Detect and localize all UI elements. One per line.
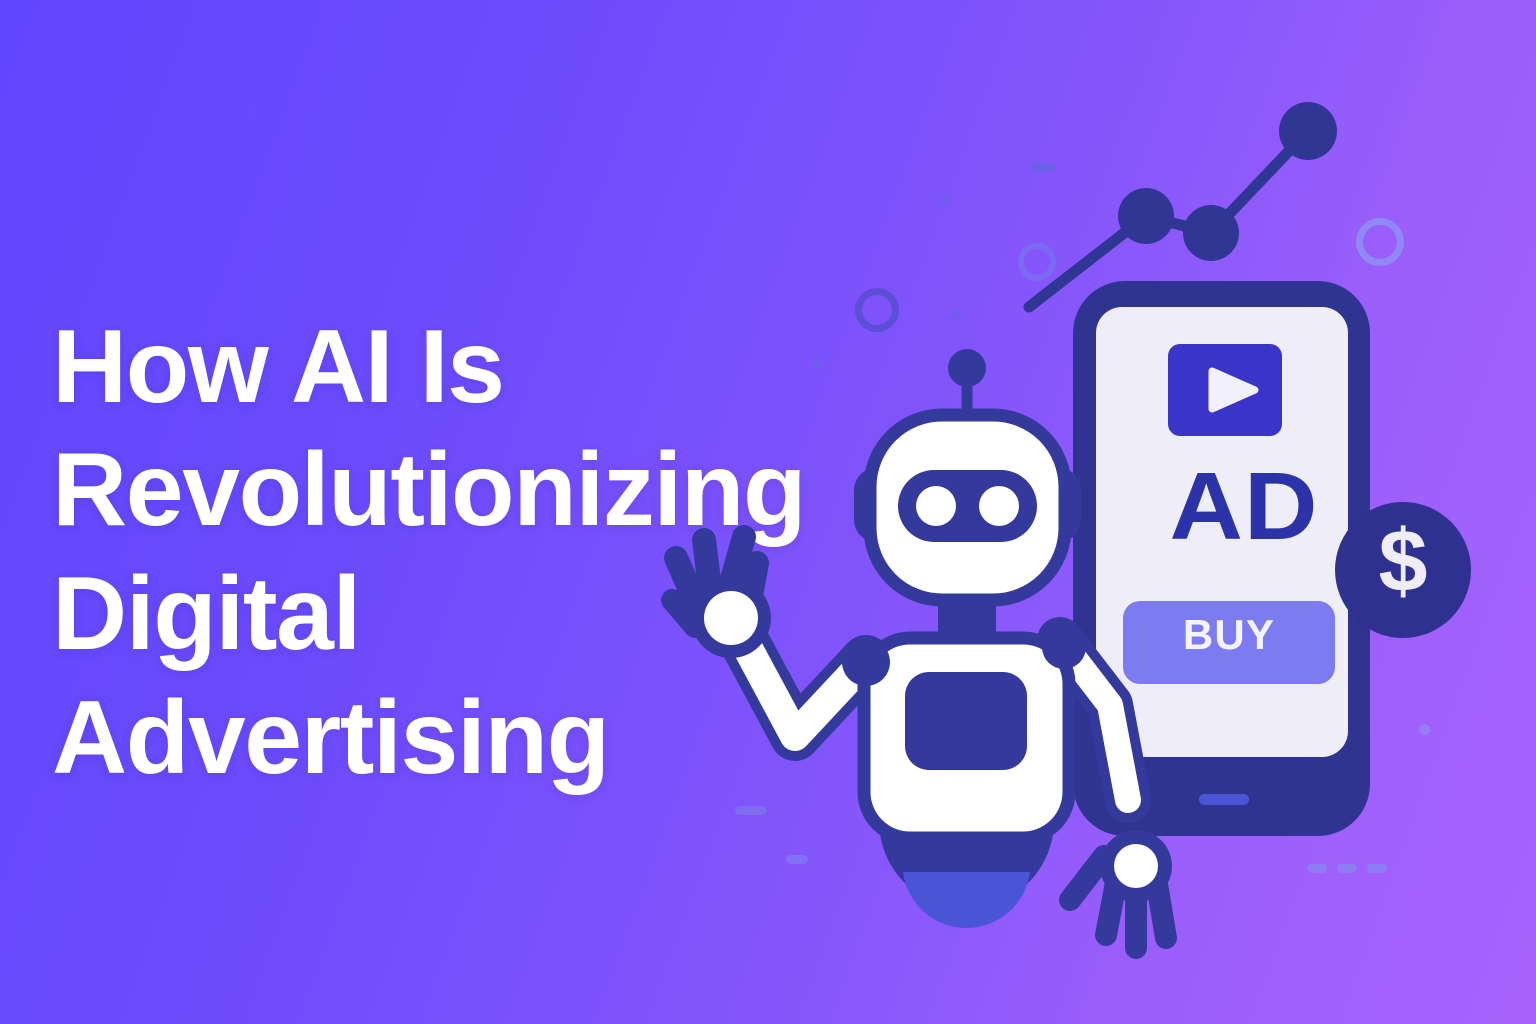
chart-node-1 bbox=[1118, 188, 1174, 244]
ad-label: AD bbox=[1138, 457, 1350, 557]
hero-banner: How AI Is Revolutionizing Digital Advert… bbox=[0, 0, 1536, 1024]
left-shoulder bbox=[842, 638, 890, 686]
chest-panel bbox=[905, 672, 1027, 770]
video-thumbnail[interactable] bbox=[1168, 344, 1282, 436]
waving-hand bbox=[672, 537, 771, 658]
resting-thumb bbox=[1070, 856, 1104, 900]
base-accent bbox=[903, 872, 1030, 928]
chart-node-2 bbox=[1183, 205, 1239, 261]
right-shoulder bbox=[1042, 625, 1086, 669]
dollar-symbol: $ bbox=[1367, 516, 1439, 606]
waving-arm bbox=[672, 537, 866, 736]
home-bar bbox=[1199, 794, 1249, 805]
resting-wrist-joint bbox=[1114, 844, 1158, 888]
chart-node-3 bbox=[1279, 102, 1337, 160]
right-eye bbox=[979, 486, 1019, 526]
left-eye bbox=[916, 486, 956, 526]
antenna-icon bbox=[948, 349, 986, 387]
resting-hand bbox=[1070, 830, 1172, 948]
buy-button-label[interactable]: BUY bbox=[1135, 613, 1323, 657]
wave-palm-joint bbox=[704, 591, 758, 645]
growth-line-chart bbox=[1029, 102, 1337, 307]
